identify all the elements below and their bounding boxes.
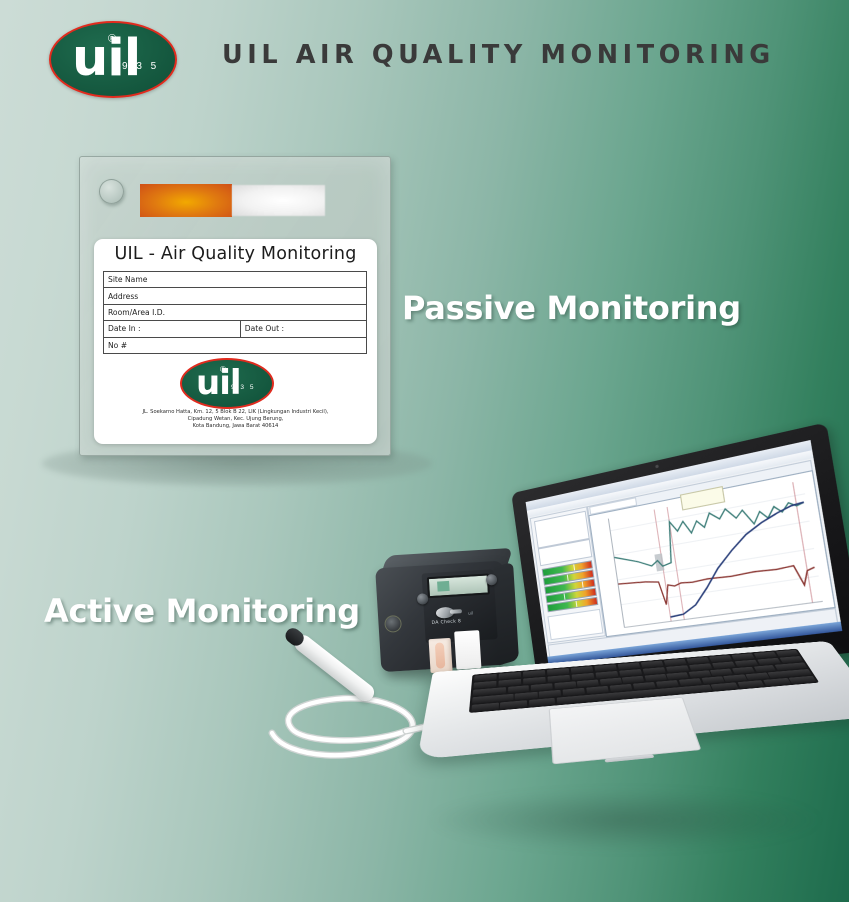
logo-code: 9 3 5 (231, 384, 255, 391)
uil-logo: uil ® 9 3 5 (49, 21, 177, 98)
laptop-base (417, 641, 849, 760)
table-row: Room/Area I.D. (104, 304, 367, 320)
field-address: Address (104, 288, 367, 304)
field-room-area-id: Room/Area I.D. (104, 304, 367, 320)
field-no: No # (104, 337, 367, 353)
active-monitoring-label: Active Monitoring (44, 592, 360, 630)
card-title: UIL - Air Quality Monitoring (94, 239, 377, 264)
address-line: JL. Soekarno Hatta, Km. 12, 5 Blok B 22,… (94, 409, 377, 416)
header-bar: uil ® 9 3 5 UIL AIR QUALITY MONITORING (0, 0, 849, 112)
table-row: Site Name (104, 272, 367, 288)
field-date-out: Date Out : (240, 321, 366, 337)
field-date-in: Date In : (104, 321, 241, 337)
registered-trademark-icon: ® (220, 365, 226, 374)
registered-trademark-icon: ® (108, 33, 116, 45)
table-row: Address (104, 288, 367, 304)
laptop-screen (526, 440, 843, 665)
badge-orange-strip (140, 184, 232, 217)
logo-code: 9 3 5 (122, 61, 159, 72)
uil-logo-card: uil ® 9 3 5 (180, 358, 274, 409)
logo-wordmark: uil (196, 364, 241, 402)
page-title: UIL AIR QUALITY MONITORING (222, 40, 775, 70)
passive-badge-card: UIL - Air Quality Monitoring Site Name A… (94, 239, 377, 444)
logo-wordmark: uil (72, 31, 140, 87)
badge-white-strip (232, 185, 325, 216)
field-site-name: Site Name (104, 272, 367, 288)
badge-form-table: Site Name Address Room/Area I.D. Date In… (103, 271, 367, 354)
webcam-icon (655, 465, 659, 469)
address-line: Kota Bandung, Jawa Barat 40614 (94, 423, 377, 430)
poster-canvas: uil ® 9 3 5 UIL AIR QUALITY MONITORING U… (0, 0, 849, 902)
passive-monitoring-label: Passive Monitoring (402, 289, 741, 327)
sidebar-note-panel (547, 609, 603, 640)
badge-punch-hole (99, 179, 124, 204)
laptop-trackpad (549, 697, 702, 764)
passive-badge-holder: UIL - Air Quality Monitoring Site Name A… (79, 156, 391, 456)
pump-dial-icon (384, 615, 402, 633)
table-row: No # (104, 337, 367, 353)
laptop-computer: MacBook Pro (432, 488, 849, 858)
address-line: Cipadung Wetan, Kec. Ujung Berung, (94, 416, 377, 423)
table-row: Date In : Date Out : (104, 321, 367, 337)
company-address: JL. Soekarno Hatta, Km. 12, 5 Blok B 22,… (94, 409, 377, 431)
